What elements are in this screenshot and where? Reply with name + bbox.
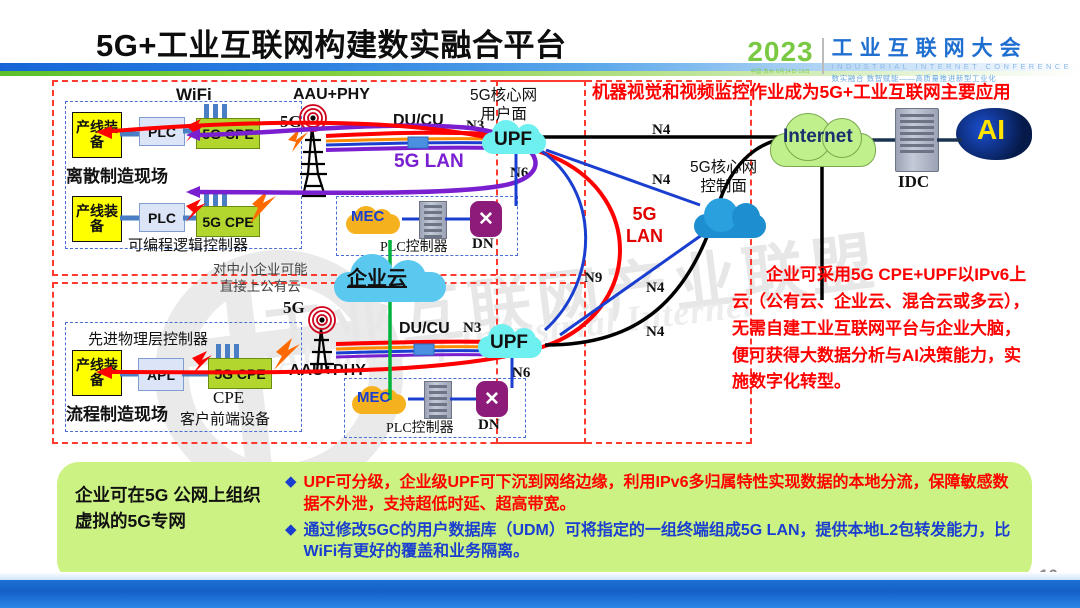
annotation-right-body: 企业可采用5G CPE+UPF以IPv6上云（公有云、企业云、混合云或多云），无… <box>732 262 1032 396</box>
n4-label-d: N4 <box>646 324 664 341</box>
plc-full-label: 可编程逻辑控制器 <box>128 234 248 255</box>
idc-label: IDC <box>898 172 929 192</box>
conference-logo: 2023 中国·苏州 6月14日-16日 工业互联网大会 INDUSTRIAL … <box>747 38 1072 84</box>
plc-controller-bottom <box>424 381 452 419</box>
diamond-bullet-icon: ◆ <box>285 520 297 540</box>
wifi-label: WiFi <box>176 85 212 105</box>
enterprise-cloud-label: 企业云 <box>347 262 407 291</box>
apl-title-label: 先进物理层控制器 <box>88 328 208 349</box>
n4-label-b: N4 <box>652 172 670 189</box>
logo-year-subtitle: 中国·苏州 6月14日-16日 <box>747 68 813 75</box>
summary-bullet-2-text: 通过修改5GC的用户数据库（UDM）可将指定的一组终端组成5G LAN，提供本地… <box>304 520 1020 564</box>
n4-label-c: N4 <box>646 280 664 297</box>
5g-lan-red-label: 5G LAN <box>626 204 663 247</box>
logo-name-cn: 工业互联网大会 <box>832 38 1072 59</box>
summary-bullets: ◆ UPF可分级，企业级UPF可下沉到网络边缘，利用IPv6多归属特性实现数据的… <box>285 472 1020 567</box>
production-equipment-1: 产线装备 <box>72 112 122 158</box>
diamond-bullet-icon: ◆ <box>285 472 297 492</box>
process-site-label: 流程制造现场 <box>66 400 168 425</box>
logo-year: 2023 <box>747 38 813 66</box>
plc-controller-top <box>419 201 447 239</box>
plc-controller-label-top: PLC控制器 <box>380 236 448 256</box>
summary-left-title: 企业可在5G 公网上组织虚拟的5G专网 <box>75 482 275 535</box>
upf-label-bottom: UPF <box>490 332 528 354</box>
user-plane-label: 5G核心网 用户面 <box>470 86 537 125</box>
cpe-abbr-label: CPE <box>213 388 244 408</box>
footer-band <box>0 578 1080 608</box>
mec-label-bottom: MEC <box>357 389 390 406</box>
discrete-site-label: 离散制造现场 <box>66 162 168 187</box>
n6-label-top: N6 <box>510 165 528 182</box>
n4-label-a: N4 <box>652 122 670 139</box>
summary-bullet-1: ◆ UPF可分级，企业级UPF可下沉到网络边缘，利用IPv6多归属特性实现数据的… <box>285 472 1020 516</box>
apl-box: APL <box>138 358 184 391</box>
production-equipment-2: 产线装备 <box>72 196 122 242</box>
upf-label-top: UPF <box>494 129 532 151</box>
ai-label: AI <box>977 114 1005 146</box>
sme-note: 对中小企业可能 直接上公有云 <box>213 262 308 296</box>
ducu-label-top: DU/CU <box>393 112 444 130</box>
5g-lan-purple-label: 5G LAN <box>394 151 464 173</box>
dn-node-top: ✕ <box>470 201 502 237</box>
idc-server <box>895 108 939 172</box>
ducu-label-bottom: DU/CU <box>399 320 450 338</box>
summary-bullet-2: ◆ 通过修改5GC的用户数据库（UDM）可将指定的一组终端组成5G LAN，提供… <box>285 520 1020 564</box>
internet-label: Internet <box>783 126 853 148</box>
n9-label: N9 <box>584 270 602 287</box>
production-equipment-3: 产线装备 <box>72 350 122 396</box>
5g-label-bottom: 5G <box>283 298 305 318</box>
cpe-box-2: 5G CPE <box>196 206 260 237</box>
logo-divider <box>822 38 824 74</box>
cpe-full-label: 客户前端设备 <box>180 408 270 429</box>
summary-box: 企业可在5G 公网上组织虚拟的5G专网 ◆ UPF可分级，企业级UPF可下沉到网… <box>57 462 1032 582</box>
control-plane-label: 5G核心网 控制面 <box>690 158 757 197</box>
aau-phy-label-top: AAU+PHY <box>293 86 370 104</box>
slide-root: 5G+工业互联网构建数实融合平台 2023 中国·苏州 6月14日-16日 工业… <box>0 0 1080 608</box>
annotation-top-right: 机器视觉和视频监控作业成为5G+工业互联网主要应用 <box>592 80 1062 105</box>
logo-name-en: INDUSTRIAL INTERNET CONFERENCE <box>832 62 1072 71</box>
mec-label-top: MEC <box>351 208 384 225</box>
5g-label-top: 5G <box>280 112 302 132</box>
plc-controller-label-bottom: PLC控制器 <box>386 417 454 437</box>
dn-node-bottom: ✕ <box>476 381 508 417</box>
plc-box-2: PLC <box>139 203 185 232</box>
dn-label-top: DN <box>472 236 494 253</box>
cpe-box-3: 5G CPE <box>208 358 272 389</box>
dn-label-bottom: DN <box>478 417 500 434</box>
cpe-box-1: 5G CPE <box>196 118 260 149</box>
plc-box-1: PLC <box>139 117 185 146</box>
page-title: 5G+工业互联网构建数实融合平台 <box>96 20 566 65</box>
summary-bullet-1-text: UPF可分级，企业级UPF可下沉到网络边缘，利用IPv6多归属特性实现数据的本地… <box>304 472 1020 516</box>
control-plane-cloud <box>694 198 766 238</box>
